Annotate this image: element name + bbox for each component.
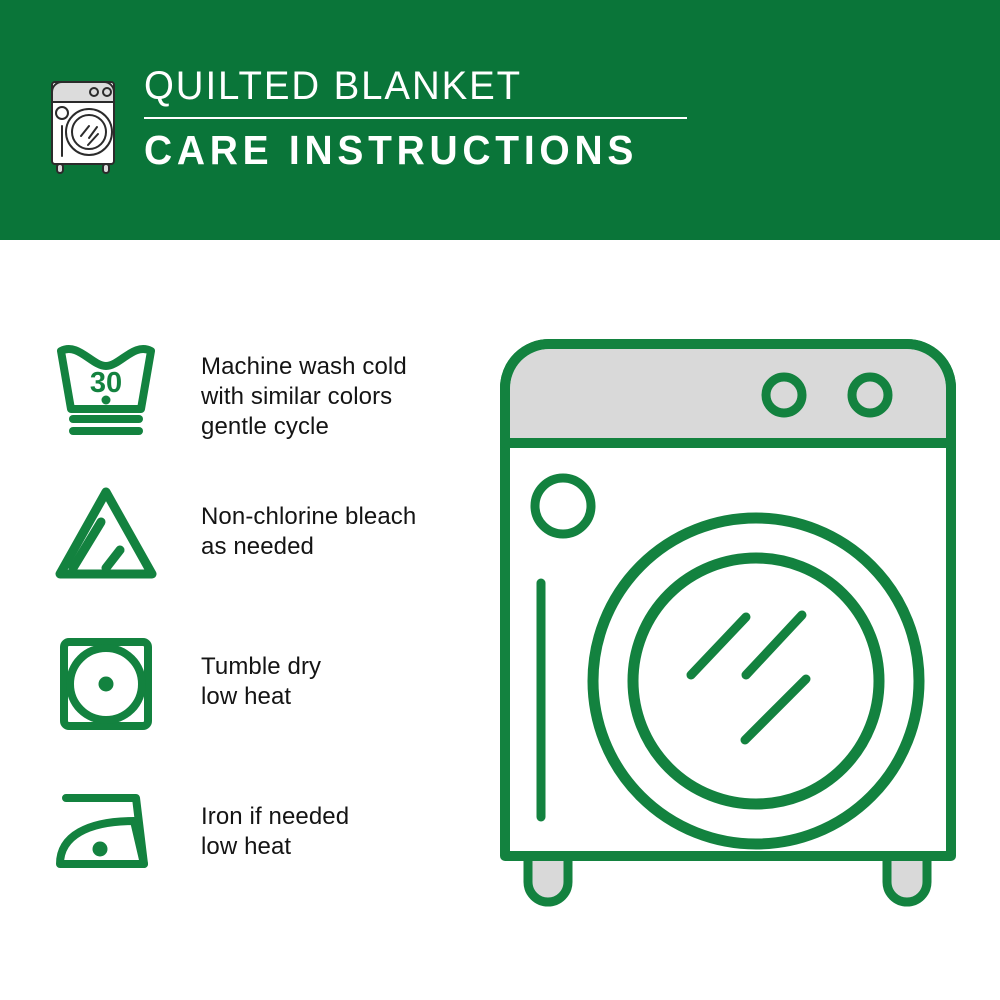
- care-line-2: with similar colors: [201, 382, 501, 412]
- non-chlorine-bleach-triangle-icon: [48, 480, 164, 588]
- care-text-iron: Iron if needed low heat: [201, 802, 501, 862]
- care-line-1: Iron if needed: [201, 802, 501, 832]
- care-text-tumble-dry: Tumble dry low heat: [201, 652, 501, 712]
- washing-machine-logo-icon: [44, 68, 136, 176]
- header-title-block: QUILTED BLANKET CARE INSTRUCTIONS: [144, 62, 744, 175]
- care-text-bleach: Non-chlorine bleach as needed: [201, 502, 501, 562]
- care-instruction-list: 30 Machine wash cold with similar colors…: [44, 330, 514, 930]
- tumble-dry-low-heat-icon: [48, 630, 164, 738]
- care-line-2: low heat: [201, 832, 501, 862]
- care-line-1: Non-chlorine bleach: [201, 502, 501, 532]
- care-line-3: gentle cycle: [201, 412, 501, 442]
- care-line-1: Tumble dry: [201, 652, 501, 682]
- care-instructions-page: QUILTED BLANKET CARE INSTRUCTIONS 30: [0, 0, 1000, 1000]
- front-load-washing-machine-illustration: [495, 330, 965, 930]
- page-subtitle: CARE INSTRUCTIONS: [144, 125, 714, 175]
- title-divider: [144, 117, 687, 119]
- care-row-machine-wash: 30 Machine wash cold with similar colors…: [44, 330, 514, 480]
- care-text-machine-wash: Machine wash cold with similar colors ge…: [201, 352, 501, 442]
- care-line-1: Machine wash cold: [201, 352, 501, 382]
- wash-temperature-label: 30: [90, 367, 122, 399]
- page-title: QUILTED BLANKET: [144, 62, 720, 110]
- care-row-bleach: Non-chlorine bleach as needed: [44, 480, 514, 630]
- header-band: QUILTED BLANKET CARE INSTRUCTIONS: [0, 0, 1000, 240]
- machine-wash-30-gentle-icon: 30: [48, 330, 164, 438]
- care-row-iron: Iron if needed low heat: [44, 780, 514, 930]
- header-content: QUILTED BLANKET CARE INSTRUCTIONS: [44, 62, 744, 182]
- care-line-2: low heat: [201, 682, 501, 712]
- care-line-2: as needed: [201, 532, 501, 562]
- care-row-tumble-dry: Tumble dry low heat: [44, 630, 514, 780]
- iron-low-heat-icon: [48, 780, 164, 888]
